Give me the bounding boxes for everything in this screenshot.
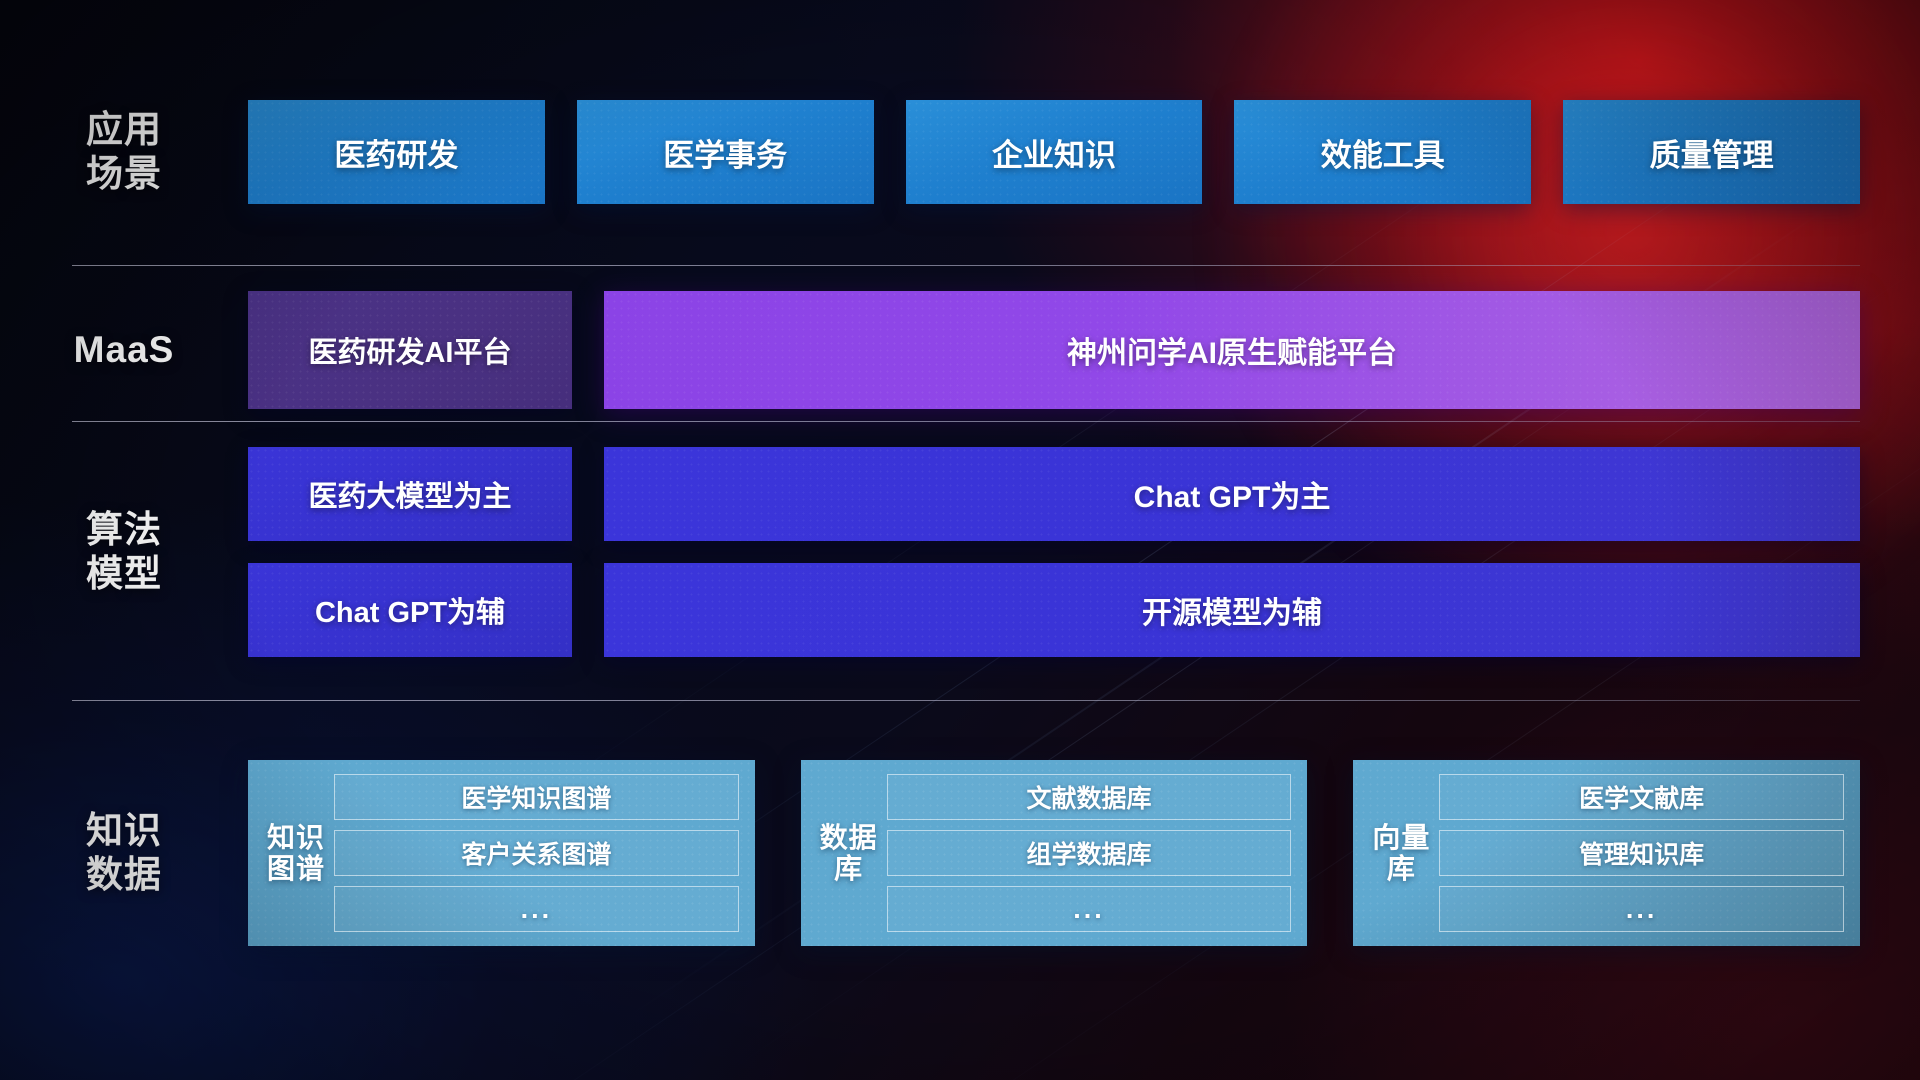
algorithm-row-group: 医药大模型为主 Chat GPT为主 Chat GPT为辅 开源模型为辅 <box>248 447 1920 657</box>
algorithm-card-label: Chat GPT为辅 <box>315 589 505 631</box>
app-card-label: 医药研发 <box>334 130 458 175</box>
app-card-efficiency-tools[interactable]: 效能工具 <box>1234 100 1531 204</box>
knowledge-panel-knowledge-graph[interactable]: 知识图谱 医学知识图谱 客户关系图谱 ... <box>248 760 755 946</box>
knowledge-item-list: 文献数据库 组学数据库 ... <box>887 774 1292 932</box>
divider-algorithm-knowledge <box>72 700 1860 701</box>
divider-application-maas <box>72 265 1860 266</box>
diagram-content: 应用 场景 医药研发 医学事务 企业知识 效能工具 质量管理 <box>0 0 1920 1080</box>
app-card-label: 医学事务 <box>663 130 787 175</box>
knowledge-item[interactable]: 医学文献库 <box>1439 774 1844 820</box>
algorithm-card-label: Chat GPT为主 <box>1134 472 1331 516</box>
app-card-label: 效能工具 <box>1321 130 1445 175</box>
knowledge-panel-title: 数据库 <box>811 774 887 932</box>
maas-card-label: 神州问学AI原生赋能平台 <box>1067 328 1397 372</box>
algorithm-card-opensource-secondary[interactable]: 开源模型为辅 <box>604 563 1860 657</box>
layer-label-knowledge: 知识 数据 <box>0 809 248 896</box>
algorithm-card-label: 开源模型为辅 <box>1142 588 1322 632</box>
maas-card-medicine-ai-platform[interactable]: 医药研发AI平台 <box>248 291 572 409</box>
application-card-list: 医药研发 医学事务 企业知识 效能工具 质量管理 <box>248 100 1920 204</box>
knowledge-item[interactable]: 文献数据库 <box>887 774 1292 820</box>
app-card-label: 质量管理 <box>1650 130 1774 175</box>
layer-label-application: 应用 场景 <box>0 108 248 195</box>
knowledge-panel-vector-store[interactable]: 向量库 医学文献库 管理知识库 ... <box>1353 760 1860 946</box>
knowledge-item-list: 医学知识图谱 客户关系图谱 ... <box>334 774 739 932</box>
layer-algorithm-models: 算法 模型 医药大模型为主 Chat GPT为主 Chat GPT为辅 开源模 <box>0 447 1920 657</box>
divider-maas-algorithm <box>72 421 1860 422</box>
layer-maas: MaaS 医药研发AI平台 神州问学AI原生赋能平台 <box>0 291 1920 409</box>
knowledge-item-list: 医学文献库 管理知识库 ... <box>1439 774 1844 932</box>
knowledge-item[interactable]: 客户关系图谱 <box>334 830 739 876</box>
algorithm-card-label: 医药大模型为主 <box>308 473 511 515</box>
maas-card-shenzhou-wenxue-platform[interactable]: 神州问学AI原生赋能平台 <box>604 291 1860 409</box>
knowledge-item-more[interactable]: ... <box>334 886 739 932</box>
algorithm-row-secondary: Chat GPT为辅 开源模型为辅 <box>248 563 1860 657</box>
knowledge-panel-list: 知识图谱 医学知识图谱 客户关系图谱 ... 数据库 文献数据库 组学数据库 .… <box>248 760 1920 946</box>
maas-card-label: 医药研发AI平台 <box>308 329 511 371</box>
knowledge-item[interactable]: 组学数据库 <box>887 830 1292 876</box>
diagram-canvas: 应用 场景 医药研发 医学事务 企业知识 效能工具 质量管理 <box>0 0 1920 1080</box>
knowledge-item-more[interactable]: ... <box>887 886 1292 932</box>
app-card-label: 企业知识 <box>992 130 1116 175</box>
app-card-medicine-rd[interactable]: 医药研发 <box>248 100 545 204</box>
knowledge-item[interactable]: 管理知识库 <box>1439 830 1844 876</box>
knowledge-panel-title: 向量库 <box>1363 774 1439 932</box>
layer-label-maas: MaaS <box>0 328 248 372</box>
algorithm-card-chatgpt-primary[interactable]: Chat GPT为主 <box>604 447 1860 541</box>
layer-application-scenarios: 应用 场景 医药研发 医学事务 企业知识 效能工具 质量管理 <box>0 100 1920 204</box>
knowledge-panel-database[interactable]: 数据库 文献数据库 组学数据库 ... <box>801 760 1308 946</box>
app-card-quality-management[interactable]: 质量管理 <box>1563 100 1860 204</box>
algorithm-row-primary: 医药大模型为主 Chat GPT为主 <box>248 447 1860 541</box>
layer-knowledge-data: 知识 数据 知识图谱 医学知识图谱 客户关系图谱 ... 数据库 文献数据库 组… <box>0 728 1920 978</box>
algorithm-card-medicine-llm-primary[interactable]: 医药大模型为主 <box>248 447 572 541</box>
knowledge-panel-title: 知识图谱 <box>258 774 334 932</box>
knowledge-item-more[interactable]: ... <box>1439 886 1844 932</box>
app-card-enterprise-knowledge[interactable]: 企业知识 <box>906 100 1203 204</box>
algorithm-card-chatgpt-secondary[interactable]: Chat GPT为辅 <box>248 563 572 657</box>
maas-card-list: 医药研发AI平台 神州问学AI原生赋能平台 <box>248 291 1920 409</box>
knowledge-item[interactable]: 医学知识图谱 <box>334 774 739 820</box>
app-card-medical-affairs[interactable]: 医学事务 <box>577 100 874 204</box>
layer-label-algorithm: 算法 模型 <box>0 508 248 595</box>
